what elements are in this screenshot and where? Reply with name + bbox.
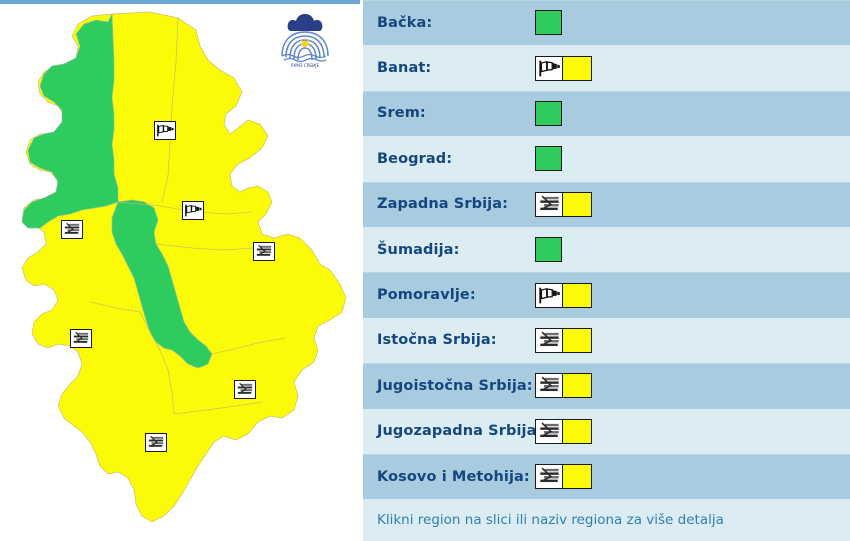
warning-badge-green [535,237,562,262]
region-row-srem[interactable]: Srem: [363,91,850,136]
region-name-label[interactable]: Kosovo i Metohija: [377,469,535,485]
map-marker-fog-kosovo-i-metohija[interactable] [145,433,167,452]
wind-warning-icon [183,202,203,219]
region-row-beograd[interactable]: Beograd: [363,136,850,181]
map-panel: РХМЗ СРБИЈЕ [0,0,360,541]
warning-level-swatch [563,420,591,443]
warning-badge-yellow [535,373,592,398]
warning-level-swatch [563,57,591,80]
region-name-label[interactable]: Jugozapadna Srbija: [377,423,535,439]
warning-level-swatch [536,11,561,34]
warning-level-swatch [563,374,591,397]
region-name-label[interactable]: Zapadna Srbija: [377,196,535,212]
fog-warning-icon [536,420,562,443]
warning-level-swatch [563,465,591,488]
fog-warning-icon [146,434,166,451]
fog-warning-icon [62,221,82,238]
region-name-label[interactable]: Istočna Srbija: [377,332,535,348]
fog-warning-icon [71,330,91,347]
region-row-jugoistočna-srbija[interactable]: Jugoistočna Srbija: [363,363,850,408]
region-list-panel: Bačka:Banat: Srem:Beograd:Zapadna Srbija… [360,0,850,541]
region-row-jugozapadna-srbija[interactable]: Jugozapadna Srbija: [363,409,850,454]
map-marker-fog-zapadna-srbija[interactable] [61,220,83,239]
region-row-šumadija[interactable]: Šumadija: [363,227,850,272]
map-marker-fog-jugozapadna-srbija[interactable] [70,329,92,348]
warning-level-swatch [536,238,561,261]
region-name-label[interactable]: Bačka: [377,15,535,31]
map-marker-fog-istocna-srbija[interactable] [253,242,275,261]
wind-warning-icon [536,284,562,307]
footer-row: Klikni region na slici ili naziv regiona… [363,499,850,541]
wind-warning-icon [536,57,562,80]
warning-badge-yellow [535,464,592,489]
rhmz-srbije-logo: РХМЗ СРБИЈЕ [272,10,338,70]
warning-badge-yellow [535,56,592,81]
region-name-label[interactable]: Banat: [377,60,535,76]
region-row-zapadna-srbija[interactable]: Zapadna Srbija: [363,182,850,227]
region-name-label[interactable]: Pomoravlje: [377,287,535,303]
warning-level-swatch [536,102,561,125]
region-row-banat[interactable]: Banat: [363,45,850,90]
map-shape-backa [22,14,118,228]
fog-warning-icon [254,243,274,260]
warning-badge-green [535,101,562,126]
warning-level-swatch [563,329,591,352]
serbia-warning-map[interactable] [0,2,360,541]
region-row-bačka[interactable]: Bačka: [363,0,850,45]
region-rows: Bačka:Banat: Srem:Beograd:Zapadna Srbija… [363,0,850,499]
meteoalarm-page: РХМЗ СРБИЈЕ [0,0,850,541]
warning-badge-yellow [535,328,592,353]
map-marker-wind-banat[interactable] [154,121,176,140]
fog-icon-cell [536,193,563,216]
fog-icon-cell [536,329,563,352]
fog-warning-icon [536,374,562,397]
map-region-shapes [22,12,346,522]
region-row-pomoravlje[interactable]: Pomoravlje: [363,272,850,317]
warning-badge-yellow [535,283,592,308]
fog-warning-icon [536,329,562,352]
warning-level-swatch [563,193,591,216]
warning-level-swatch [563,284,591,307]
fog-warning-icon [536,193,562,216]
warning-badge-yellow [535,419,592,444]
region-row-istočna-srbija[interactable]: Istočna Srbija: [363,318,850,363]
fog-icon-cell [536,420,563,443]
logo-caption: РХМЗ СРБИЈЕ [291,63,320,68]
warning-badge-green [535,146,562,171]
windsock-icon-cell [536,284,563,307]
fog-warning-icon [235,381,255,398]
windsock-icon-cell [536,57,563,80]
wind-warning-icon [155,122,175,139]
region-name-label[interactable]: Beograd: [377,151,535,167]
fog-warning-icon [536,465,562,488]
map-marker-wind-pomoravlje[interactable] [182,201,204,220]
warning-badge-green [535,10,562,35]
warning-level-swatch [536,147,561,170]
region-name-label[interactable]: Srem: [377,105,535,121]
map-marker-fog-jugoistocna-srbija[interactable] [234,380,256,399]
region-name-label[interactable]: Šumadija: [377,242,535,258]
footer-note: Klikni region na slici ili naziv regiona… [377,512,724,528]
fog-icon-cell [536,465,563,488]
fog-icon-cell [536,374,563,397]
region-name-label[interactable]: Jugoistočna Srbija: [377,378,535,394]
region-row-kosovo-i-metohija[interactable]: Kosovo i Metohija: [363,454,850,499]
warning-badge-yellow [535,192,592,217]
